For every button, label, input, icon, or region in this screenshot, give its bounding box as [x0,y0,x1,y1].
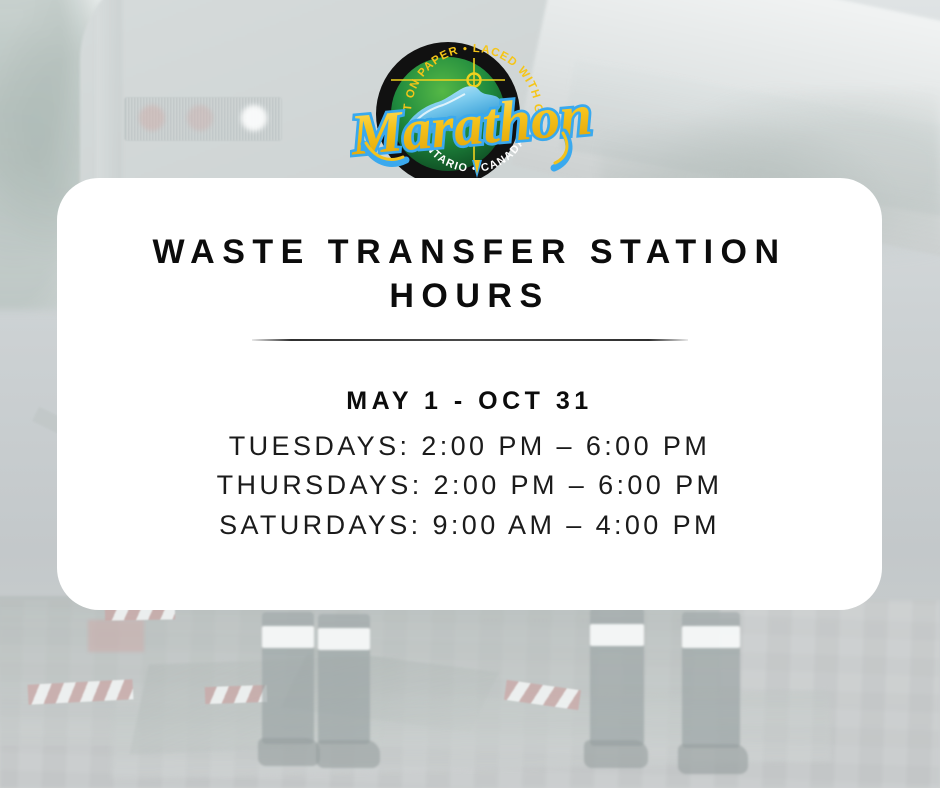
background-hazard-stripe [205,685,268,704]
background-worker-left [262,612,382,788]
waste-transfer-station-hours-poster: BUILT ON PAPER • LACED WITH GOLD ONTARIO… [0,0,940,788]
season-label: MAY 1 - OCT 31 [57,387,882,416]
worker-boot [678,744,748,774]
marathon-logo: BUILT ON PAPER • LACED WITH GOLD ONTARIO… [350,36,596,182]
background-lamp-right [241,105,267,131]
hours-card: WASTE TRANSFER STATION HOURS MAY 1 - OCT… [57,178,882,610]
page-title-line-2: HOURS [389,277,549,315]
worker-hi-vis-band [318,628,370,650]
hours-row-thursdays: THURSDAYS: 2:00 PM – 6:00 PM [57,466,882,505]
title-divider [252,339,688,341]
background-control-box [88,620,144,652]
worker-boot [258,738,320,766]
background-lamp-middle [187,105,213,131]
worker-boot [316,740,380,768]
worker-boot [584,740,648,768]
worker-hi-vis-band [682,626,740,648]
background-truck-taillight-panel [124,97,282,141]
background-lamp-left [139,105,165,131]
page-title: WASTE TRANSFER STATION HOURS [120,230,820,318]
page-title-line-1: WASTE TRANSFER STATION [152,233,786,271]
hours-row-saturdays: SATURDAYS: 9:00 AM – 4:00 PM [57,506,882,545]
worker-hi-vis-band [262,626,314,648]
background-worker-right [590,608,760,788]
worker-hi-vis-band [590,624,644,646]
hours-row-tuesdays: TUESDAYS: 2:00 PM – 6:00 PM [57,427,882,466]
hours-list: TUESDAYS: 2:00 PM – 6:00 PM THURSDAYS: 2… [57,427,882,545]
